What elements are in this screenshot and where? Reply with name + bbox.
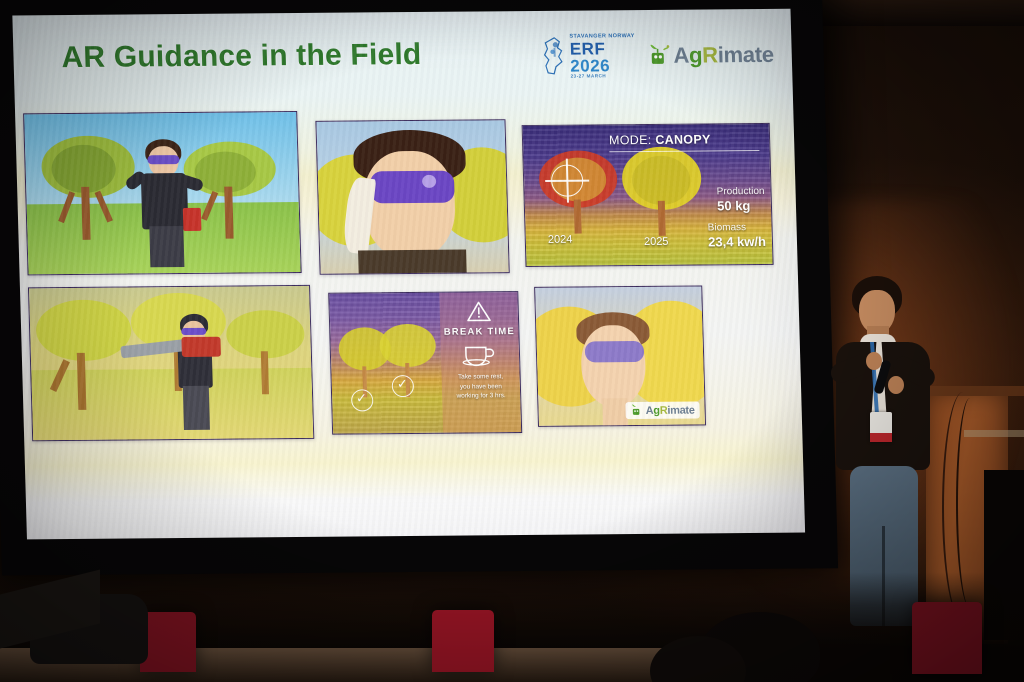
audience-chair bbox=[432, 610, 494, 672]
panel-6-farmer-wheatfield: AgRimate bbox=[534, 285, 706, 426]
erf-2026-logo: STAVANGER NORWAY ERF 2026 23-27 MARCH bbox=[540, 34, 636, 79]
photo-scene: AR Guidance in the Field STAVANGER NORWA… bbox=[0, 0, 1024, 682]
warning-triangle-icon bbox=[465, 300, 492, 322]
erf-year: 2026 bbox=[570, 57, 636, 75]
agrimate-robot-icon bbox=[647, 44, 670, 68]
norway-map-icon bbox=[540, 36, 567, 78]
panel-4-chainsaw-pruning bbox=[28, 285, 314, 441]
ar-year-left: 2024 bbox=[548, 234, 573, 246]
presenter-right-hand bbox=[888, 376, 904, 394]
slide-logo-row: STAVANGER NORWAY ERF 2026 23-27 MARCH bbox=[540, 33, 774, 79]
slide-canvas: AR Guidance in the Field STAVANGER NORWA… bbox=[12, 9, 805, 540]
agrimate-logo: AgRimate bbox=[647, 42, 774, 69]
ar-mode-value: CANOPY bbox=[655, 132, 711, 146]
agrimate-robot-icon bbox=[630, 404, 642, 417]
coffee-cup-icon bbox=[461, 340, 498, 366]
agrimate-wordmark-small: AgRimate bbox=[645, 404, 694, 416]
slide-panel-grid: 2024 2025 MODE: CANOPY Production 50 kg bbox=[23, 93, 795, 450]
panel-2-closeup-glasses bbox=[315, 119, 509, 275]
presenter-badge bbox=[870, 412, 892, 442]
agrimate-wordmark: AgRimate bbox=[673, 42, 774, 69]
ar-year-right: 2025 bbox=[644, 236, 669, 248]
panel-3-ar-canopy-hud: 2024 2025 MODE: CANOPY Production 50 kg bbox=[522, 123, 774, 267]
audience-chair bbox=[140, 612, 196, 672]
projection-screen: AR Guidance in the Field STAVANGER NORWA… bbox=[0, 0, 838, 576]
ar-check-tree-2: ✓ bbox=[392, 375, 415, 397]
ar-metric-production: Production 50 kg bbox=[717, 186, 766, 213]
erf-dates: 23-27 MARCH bbox=[570, 74, 636, 79]
break-time-message: Take some rest, you have been working fo… bbox=[441, 372, 520, 401]
break-time-title: BREAK TIME bbox=[440, 326, 518, 338]
ar-mode-label: MODE: CANOPY bbox=[609, 132, 711, 147]
ar-metric-biomass: Biomass 23,4 kw/h bbox=[708, 222, 767, 249]
panel-5-break-time-alert: ✓ ✓ BREAK TIME bbox=[328, 291, 522, 435]
audience-chair bbox=[912, 602, 982, 674]
panel-6-watermark: AgRimate bbox=[625, 401, 699, 419]
ar-check-tree-1: ✓ bbox=[351, 389, 374, 411]
projected-slide: AR Guidance in the Field STAVANGER NORWA… bbox=[12, 9, 805, 540]
panel-1-farmer-grove bbox=[23, 111, 302, 275]
erf-name: ERF bbox=[570, 40, 636, 58]
slide-title: AR Guidance in the Field bbox=[61, 38, 422, 75]
